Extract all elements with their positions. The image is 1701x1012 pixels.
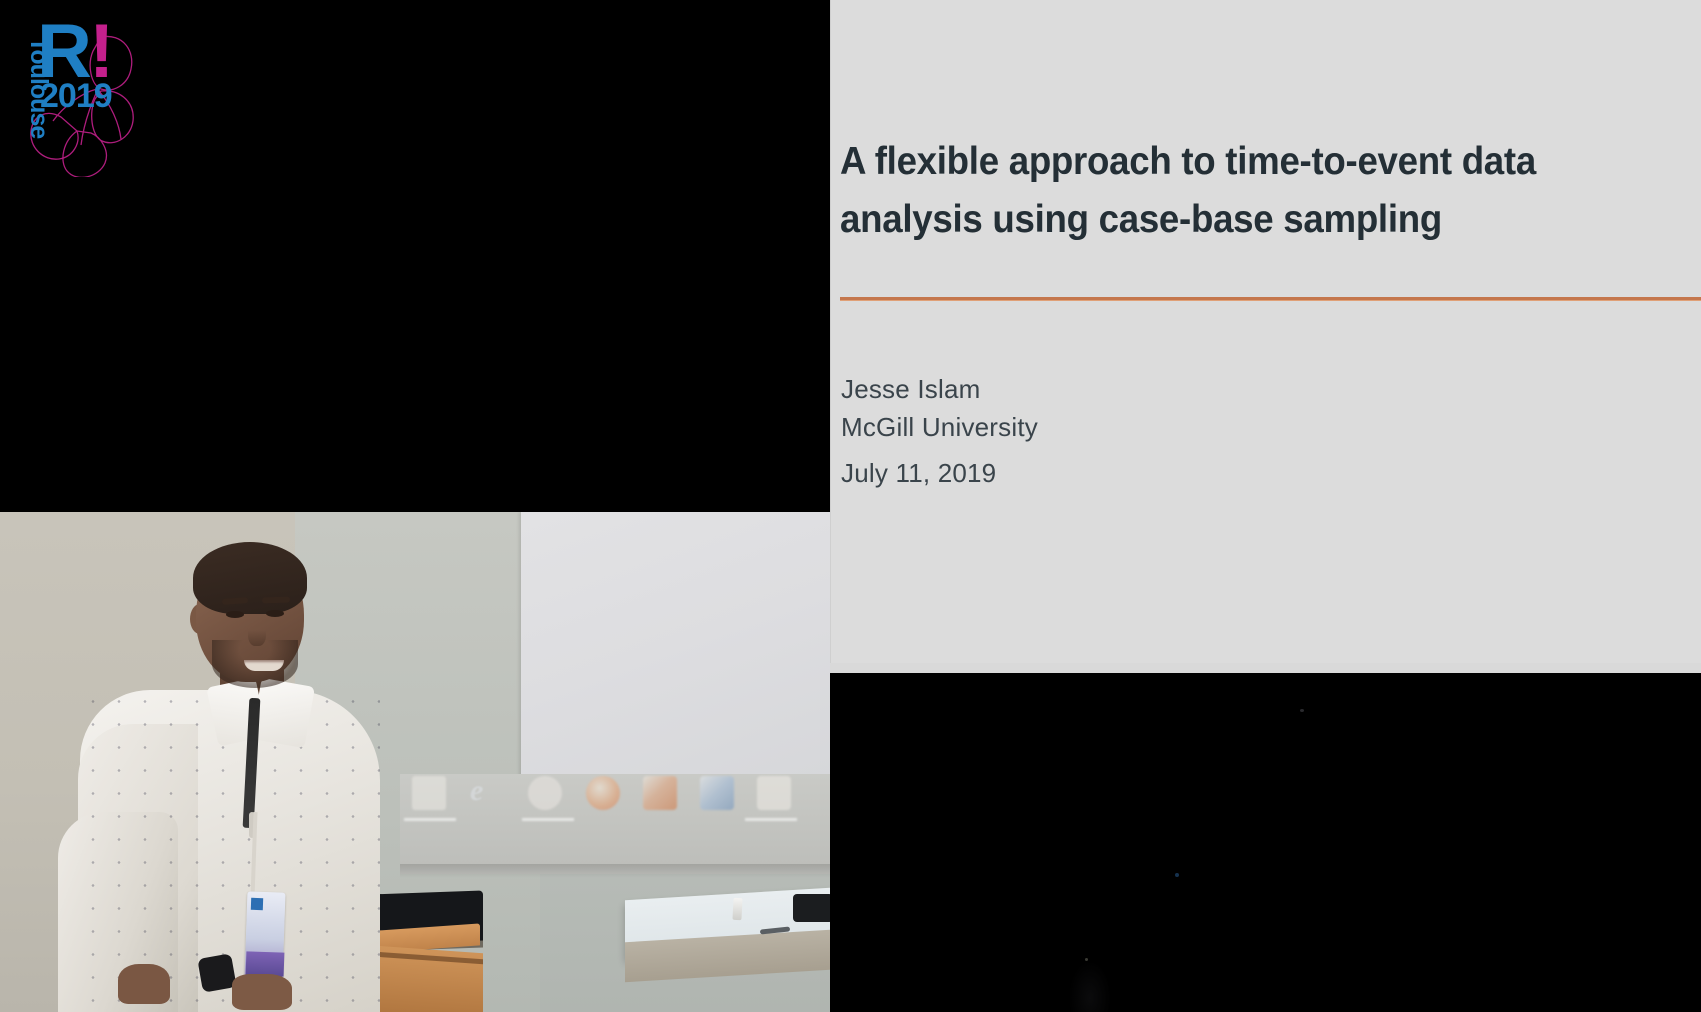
speaker-figure [0, 512, 830, 1012]
speaker-hand-left [118, 964, 170, 1004]
slide-author-block: Jesse Islam McGill University July 11, 2… [841, 370, 1038, 492]
speaker-camera-frame[interactable]: e [0, 512, 830, 1012]
slide-title: A flexible approach to time-to-event dat… [840, 133, 1648, 249]
secondary-video-pane[interactable] [830, 663, 1701, 1012]
slide-affiliation: McGill University [841, 408, 1038, 446]
speaker-eye-right [266, 610, 284, 617]
video-speck [1300, 709, 1304, 712]
video-speck [1175, 873, 1179, 877]
speaker-collar-right [251, 678, 315, 748]
speaker-video-pane[interactable]: e [0, 0, 830, 1012]
wristwatch [197, 953, 236, 992]
badge-logo-icon [251, 898, 263, 910]
toulouse-r-2019-logo: Toulouse R ! 2019 [5, 5, 145, 177]
slide-title-line-1: A flexible approach to time-to-event dat… [840, 140, 1536, 183]
slide-title-line-2: analysis using case-base sampling [840, 198, 1442, 241]
speaker-hand-right [232, 974, 292, 1010]
slide-content: A flexible approach to time-to-event dat… [840, 0, 1701, 663]
slide-title-rule [840, 297, 1701, 300]
secondary-video-topbar [830, 663, 1701, 673]
slide-date: July 11, 2019 [841, 454, 1038, 492]
speaker-eyebrow-right [262, 597, 290, 604]
video-speck [1085, 958, 1088, 961]
recording-stage: e [0, 0, 1701, 1012]
speaker-hair [193, 542, 307, 614]
secondary-video-glow [1070, 963, 1110, 1012]
speaker-mouth [244, 660, 284, 671]
svg-text:2019: 2019 [40, 77, 112, 115]
speaker-eye-left [226, 611, 244, 618]
badge-color-band [246, 951, 285, 976]
slide-author-name: Jesse Islam [841, 370, 1038, 408]
presentation-slide[interactable]: A flexible approach to time-to-event dat… [830, 0, 1701, 663]
